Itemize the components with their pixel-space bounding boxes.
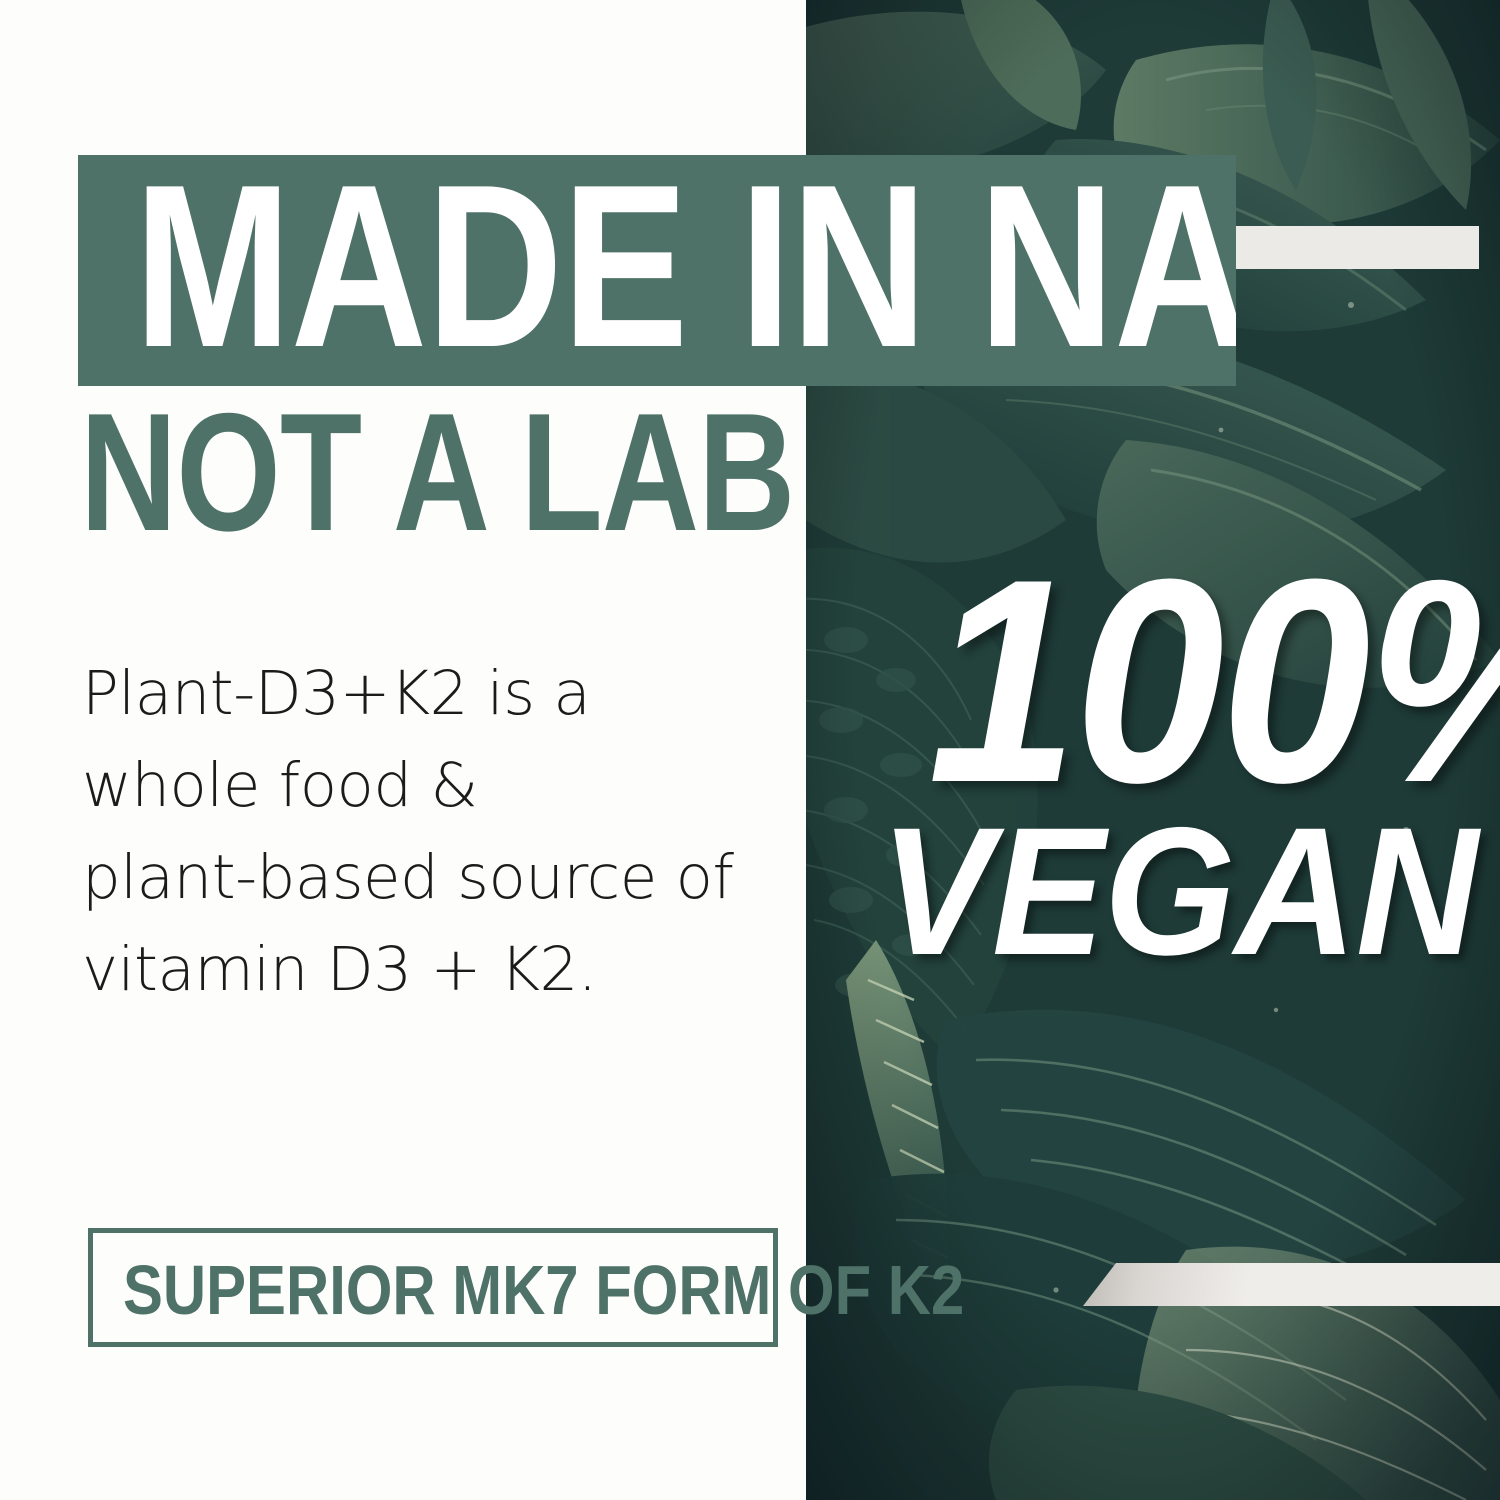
accent-bar-bottom bbox=[1083, 1263, 1500, 1306]
mk7-claim-box: SUPERIOR MK7 FORM OF K2 bbox=[88, 1228, 778, 1347]
body-line-2: whole food & bbox=[82, 740, 742, 832]
body-line-1: Plant-D3+K2 is a bbox=[82, 648, 742, 740]
mk7-claim-label: SUPERIOR MK7 FORM OF K2 bbox=[123, 1253, 964, 1327]
vegan-d3-claim-text: VEGAN D3 bbox=[880, 796, 1500, 986]
body-line-3: plant-based source of bbox=[82, 832, 742, 924]
percent-claim-text: 100% bbox=[928, 536, 1500, 826]
body-paragraph: Plant-D3+K2 is a whole food & plant-base… bbox=[82, 648, 742, 1016]
headline-banner-label: MADE IN NATURE bbox=[134, 155, 1236, 386]
headline-banner: MADE IN NATURE bbox=[78, 155, 1236, 386]
product-marketing-graphic: 100% VEGAN D3 MADE IN NATURE NOT A LAB P… bbox=[0, 0, 1500, 1500]
subheadline-text: NOT A LAB bbox=[80, 382, 794, 562]
accent-bar-top bbox=[1236, 226, 1479, 269]
body-line-4: vitamin D3 + K2. bbox=[82, 924, 742, 1016]
